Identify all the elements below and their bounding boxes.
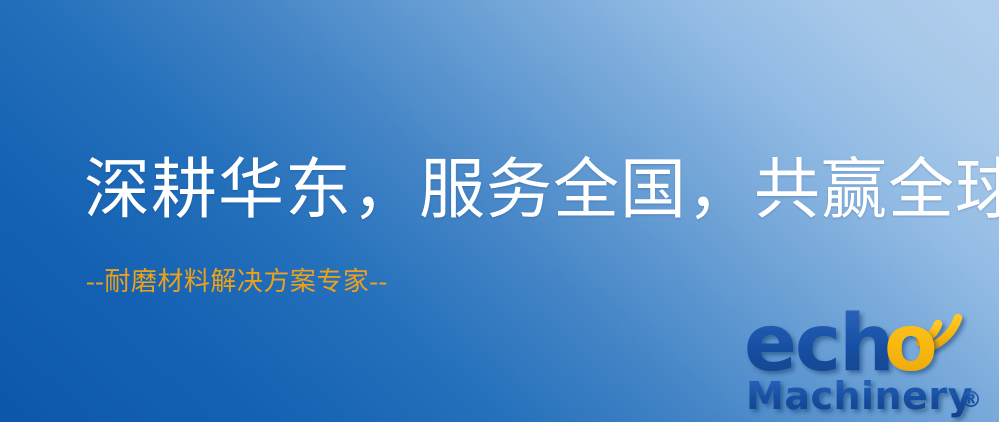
logo-tagline: Machinery (746, 374, 973, 418)
page-title: 深耕华东，服务全国，共赢全球 (84, 152, 944, 230)
company-logo[interactable]: ech o Machinery ® (744, 296, 994, 418)
page-subtitle: --耐磨材料解决方案专家-- (86, 266, 388, 298)
registered-trademark-icon: ® (960, 388, 982, 413)
hero-banner: 深耕华东，服务全国，共赢全球 --耐磨材料解决方案专家-- (0, 0, 999, 422)
